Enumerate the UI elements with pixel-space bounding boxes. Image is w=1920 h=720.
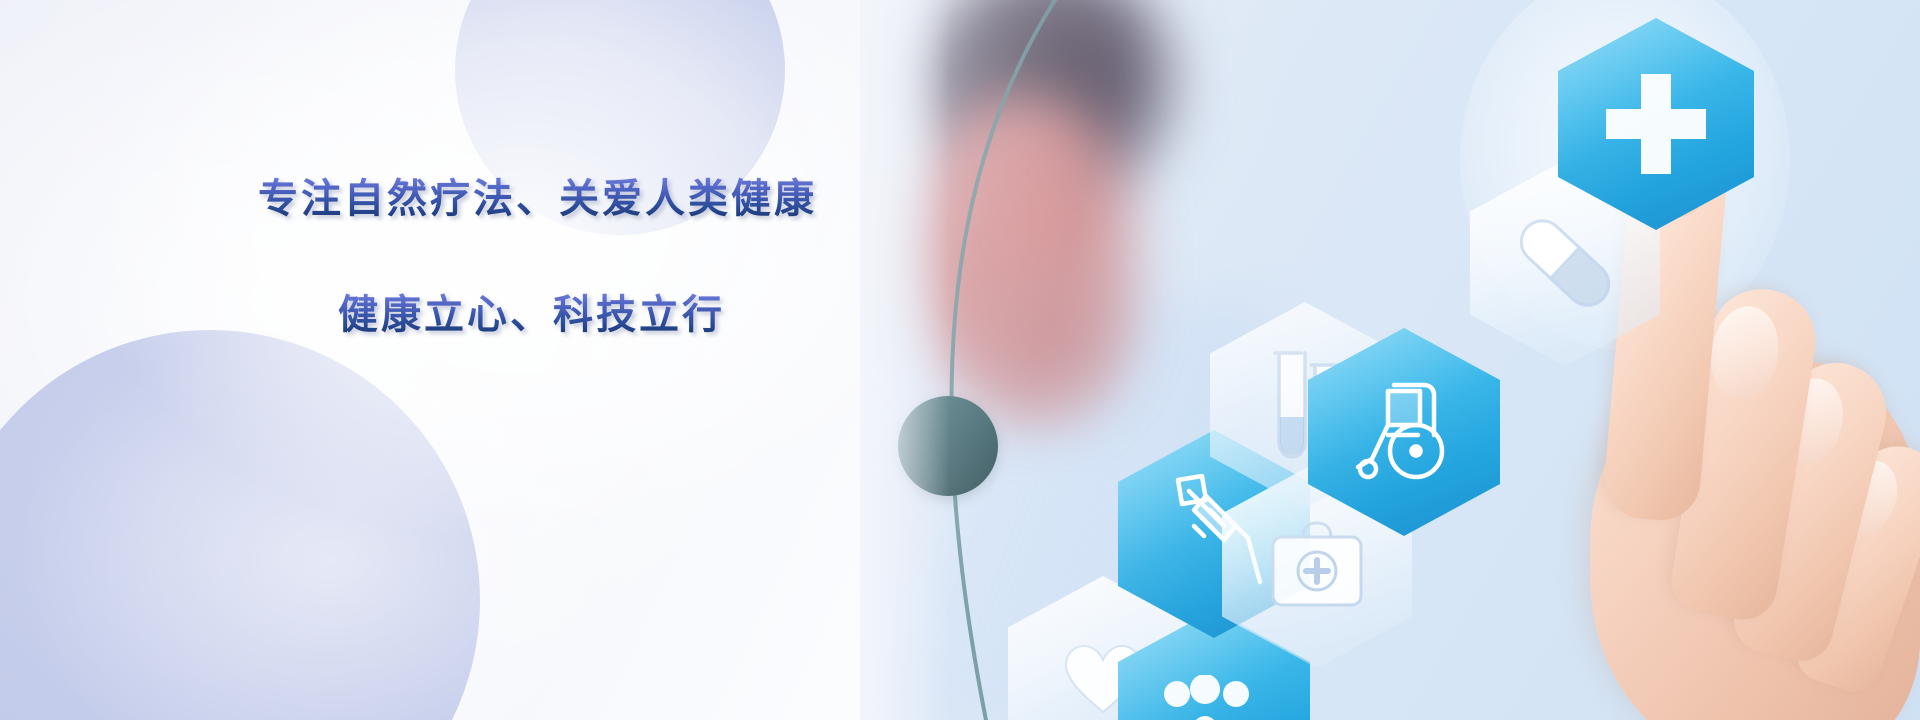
family-group-icon (1160, 675, 1268, 720)
headline-block: 专注自然疗法、关爱人类健康 健康立心、科技立行 (258, 176, 858, 338)
wheelchair-icon (1348, 379, 1460, 485)
headline-line-2: 健康立心、科技立行 (338, 292, 858, 338)
teal-dot (898, 396, 998, 496)
medical-photo-panel (860, 0, 1920, 720)
pill-capsule-icon (1503, 202, 1627, 324)
headline-line-1: 专注自然疗法、关爱人类健康 (258, 176, 858, 222)
medical-cross-icon (1600, 68, 1712, 180)
health-banner: 专注自然疗法、关爱人类健康 健康立心、科技立行 (0, 0, 1920, 720)
first-aid-kit-icon (1267, 517, 1367, 613)
background-veil (0, 0, 940, 720)
